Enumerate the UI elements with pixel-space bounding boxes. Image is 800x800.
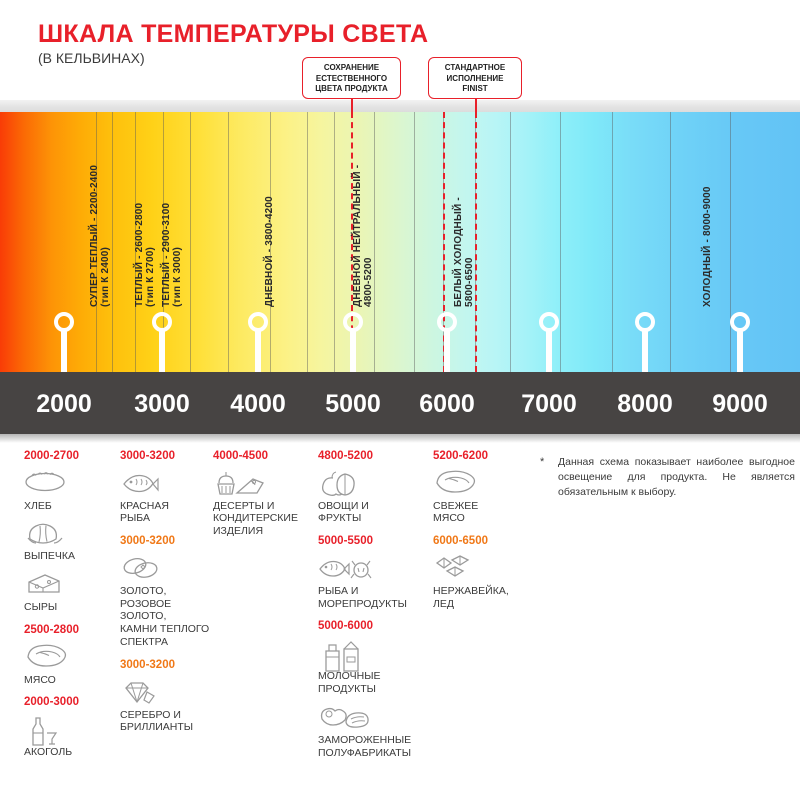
scale-marker-stem (642, 330, 648, 372)
callout-line: ИСПОЛНЕНИЕ (436, 74, 514, 85)
pastry-icon (24, 519, 114, 549)
legend-item-caption: ВЫПЕЧКА (24, 550, 114, 563)
footnote-text: Данная схема показывает наиболее выгодно… (558, 455, 795, 500)
scale-marker-stem (350, 330, 356, 372)
spectrum-divider (510, 112, 511, 372)
infographic-page: ШКАЛА ТЕМПЕРАТУРЫ СВЕТА (В КЕЛЬВИНАХ) СО… (0, 0, 800, 800)
dairy-icon (318, 639, 428, 669)
scale-tick-8000: 8000 (617, 390, 673, 419)
legend-column-2: 3000-3200КРАСНАЯ РЫБА3000-3200ЗОЛОТО, РО… (120, 450, 215, 744)
spectrum-divider (374, 112, 375, 372)
legend-range-label: 4800-5200 (318, 450, 428, 463)
scale-marker-stem (61, 330, 67, 372)
legend-range-label: 5000-6000 (318, 620, 428, 633)
callout-natural-color: СОХРАНЕНИЕЕСТЕСТВЕННОГОЦВЕТА ПРОДУКТА (302, 57, 401, 99)
legend-item: АКОГОЛЬ (24, 715, 114, 759)
scale-marker[interactable] (54, 312, 74, 372)
legend-item-caption: СЕРЕБРО И БРИЛЛИАНТЫ (120, 709, 215, 735)
scale-marker-stem (159, 330, 165, 372)
spectrum-divider (414, 112, 415, 372)
legend-range-label: 2000-3000 (24, 696, 114, 709)
callout-finist-standard: СТАНДАРТНОЕИСПОЛНЕНИЕFINIST (428, 57, 522, 99)
legend-item: СЕРЕБРО И БРИЛЛИАНТЫ (120, 678, 215, 735)
frozen-food-icon (318, 703, 428, 733)
scale-bar (0, 372, 800, 434)
scale-marker[interactable] (730, 312, 750, 372)
fresh-meat-icon (433, 469, 533, 499)
scale-marker-ring (248, 312, 268, 332)
legend-item-caption: СВЕЖЕЕ МЯСО (433, 500, 533, 526)
legend-item-caption: ОВОЩИ И ФРУКТЫ (318, 500, 428, 526)
scale-bar-shadow (0, 434, 800, 443)
spectrum-divider (190, 112, 191, 372)
legend-item-caption: ЗОЛОТО, РОЗОВОЕ ЗОЛОТО, КАМНИ ТЕПЛОГО СП… (120, 585, 215, 649)
scale-marker-ring (437, 312, 457, 332)
spectrum-divider (670, 112, 671, 372)
scale-tick-7000: 7000 (521, 390, 577, 419)
spectrum-divider (560, 112, 561, 372)
callout-stem-finist-standard (475, 99, 477, 112)
legend-group: 3000-3200СЕРЕБРО И БРИЛЛИАНТЫ (120, 659, 215, 734)
gold-rings-icon (120, 554, 215, 584)
spectrum-divider (112, 112, 113, 372)
legend-item: КРАСНАЯ РЫБА (120, 469, 215, 526)
cheese-icon (24, 570, 114, 600)
scale-marker-ring (152, 312, 172, 332)
legend-column-4: 4800-5200ОВОЩИ И ФРУКТЫ5000-5500РЫБА И М… (318, 450, 428, 769)
spectrum-top-band (0, 100, 800, 112)
scale-marker[interactable] (248, 312, 268, 372)
legend-item-caption: НЕРЖАВЕЙКА, ЛЕД (433, 585, 533, 611)
legend-item-caption: АКОГОЛЬ (24, 746, 114, 759)
legend-item-caption: МЯСО (24, 674, 114, 687)
legend-range-label: 3000-3200 (120, 535, 215, 548)
legend-range-label: 2500-2800 (24, 624, 114, 637)
meat-icon (24, 643, 114, 673)
scale-tick-9000: 9000 (712, 390, 768, 419)
alcohol-icon (24, 715, 114, 745)
legend-item-caption: МОЛОЧНЫЕ ПРОДУКТЫ (318, 670, 428, 696)
legend-item: ДЕСЕРТЫ И КОНДИТЕРСКИЕ ИЗДЕЛИЯ (213, 469, 313, 538)
callout-line: ЕСТЕСТВЕННОГО (310, 74, 393, 85)
scale-marker-stem (737, 330, 743, 372)
legend-group: 4800-5200ОВОЩИ И ФРУКТЫ (318, 450, 428, 525)
legend-item-caption: КРАСНАЯ РЫБА (120, 500, 215, 526)
bread-icon (24, 469, 114, 499)
legend-item: ЗАМОРОЖЕННЫЕ ПОЛУФАБРИКАТЫ (318, 703, 428, 760)
scale-tick-5000: 5000 (325, 390, 381, 419)
scale-marker-ring (343, 312, 363, 332)
legend-section: 2000-2700ХЛЕБВЫПЕЧКАСЫРЫ2500-2800МЯСО200… (0, 450, 800, 800)
legend-range-label: 5000-5500 (318, 535, 428, 548)
spectrum-divider (307, 112, 308, 372)
callout-line: ЦВЕТА ПРОДУКТА (310, 84, 393, 95)
legend-item-caption: РЫБА И МОРЕПРОДУКТЫ (318, 585, 428, 611)
scale-marker-ring (539, 312, 559, 332)
legend-group: 2000-2700ХЛЕБВЫПЕЧКАСЫРЫ (24, 450, 114, 614)
legend-item-caption: ЗАМОРОЖЕННЫЕ ПОЛУФАБРИКАТЫ (318, 734, 428, 760)
legend-range-label: 3000-3200 (120, 450, 215, 463)
legend-item: ВЫПЕЧКА (24, 519, 114, 563)
scale-tick-2000: 2000 (36, 390, 92, 419)
legend-item: СВЕЖЕЕ МЯСО (433, 469, 533, 526)
scale-marker-stem (546, 330, 552, 372)
legend-item: МЯСО (24, 643, 114, 687)
fish-seafood-icon (318, 554, 428, 584)
legend-group: 3000-3200ЗОЛОТО, РОЗОВОЕ ЗОЛОТО, КАМНИ Т… (120, 535, 215, 649)
scale-marker-ring (730, 312, 750, 332)
legend-item-caption: ХЛЕБ (24, 500, 114, 513)
legend-item: ОВОЩИ И ФРУКТЫ (318, 469, 428, 526)
legend-group: 5000-5500РЫБА И МОРЕПРОДУКТЫ (318, 535, 428, 610)
legend-range-label: 2000-2700 (24, 450, 114, 463)
legend-item-caption: ДЕСЕРТЫ И КОНДИТЕРСКИЕ ИЗДЕЛИЯ (213, 500, 313, 538)
scale-marker-stem (444, 330, 450, 372)
scale-marker[interactable] (635, 312, 655, 372)
page-subtitle: (В КЕЛЬВИНАХ) (38, 50, 145, 66)
legend-item: РЫБА И МОРЕПРОДУКТЫ (318, 554, 428, 611)
scale-marker[interactable] (437, 312, 457, 372)
scale-marker[interactable] (343, 312, 363, 372)
spectrum-divider (334, 112, 335, 372)
scale-tick-6000: 6000 (419, 390, 475, 419)
legend-group: 2000-3000АКОГОЛЬ (24, 696, 114, 758)
legend-column-3: 4000-4500ДЕСЕРТЫ И КОНДИТЕРСКИЕ ИЗДЕЛИЯ (213, 450, 313, 548)
legend-group: 5200-6200СВЕЖЕЕ МЯСО (433, 450, 533, 525)
scale-marker-ring (635, 312, 655, 332)
dessert-icon (213, 469, 313, 499)
red-fish-icon (120, 469, 215, 499)
scale-tick-3000: 3000 (134, 390, 190, 419)
legend-column-1: 2000-2700ХЛЕБВЫПЕЧКАСЫРЫ2500-2800МЯСО200… (24, 450, 114, 769)
legend-range-label: 5200-6200 (433, 450, 533, 463)
scale-marker[interactable] (539, 312, 559, 372)
legend-range-label: 4000-4500 (213, 450, 313, 463)
callout-line: FINIST (436, 84, 514, 95)
callout-line: СОХРАНЕНИЕ (310, 63, 393, 74)
scale-marker-stem (255, 330, 261, 372)
legend-item-caption: СЫРЫ (24, 601, 114, 614)
legend-group: 3000-3200КРАСНАЯ РЫБА (120, 450, 215, 525)
legend-item: НЕРЖАВЕЙКА, ЛЕД (433, 554, 533, 611)
legend-group: 4000-4500ДЕСЕРТЫ И КОНДИТЕРСКИЕ ИЗДЕЛИЯ (213, 450, 313, 538)
scale-marker-ring (54, 312, 74, 332)
legend-item: МОЛОЧНЫЕ ПРОДУКТЫ (318, 639, 428, 696)
spectrum-dashed-marker (475, 112, 477, 372)
spectrum-divider (228, 112, 229, 372)
callout-stem-natural-color (351, 99, 353, 112)
legend-item: ЗОЛОТО, РОЗОВОЕ ЗОЛОТО, КАМНИ ТЕПЛОГО СП… (120, 554, 215, 649)
diamond-icon (120, 678, 215, 708)
legend-column-5: 5200-6200СВЕЖЕЕ МЯСО6000-6500НЕРЖАВЕЙКА,… (433, 450, 533, 620)
spectrum-divider (612, 112, 613, 372)
scale-tick-4000: 4000 (230, 390, 286, 419)
scale-marker[interactable] (152, 312, 172, 372)
spectrum-gradient-bar: СУПЕР ТЕПЛЫЙ - 2200-2400 (тип К 2400)ТЕП… (0, 112, 800, 372)
legend-range-label: 3000-3200 (120, 659, 215, 672)
vegetables-fruits-icon (318, 469, 428, 499)
legend-item: ХЛЕБ (24, 469, 114, 513)
legend-group: 2500-2800МЯСО (24, 624, 114, 686)
page-title: ШКАЛА ТЕМПЕРАТУРЫ СВЕТА (38, 20, 428, 49)
legend-group: 5000-6000МОЛОЧНЫЕ ПРОДУКТЫЗАМОРОЖЕННЫЕ П… (318, 620, 428, 759)
legend-range-label: 6000-6500 (433, 535, 533, 548)
callout-line: СТАНДАРТНОЕ (436, 63, 514, 74)
legend-item: СЫРЫ (24, 570, 114, 614)
footnote-marker: * (540, 455, 544, 471)
steel-ice-icon (433, 554, 533, 584)
footnote: * Данная схема показывает наиболее выгод… (540, 455, 795, 500)
legend-group: 6000-6500НЕРЖАВЕЙКА, ЛЕД (433, 535, 533, 610)
